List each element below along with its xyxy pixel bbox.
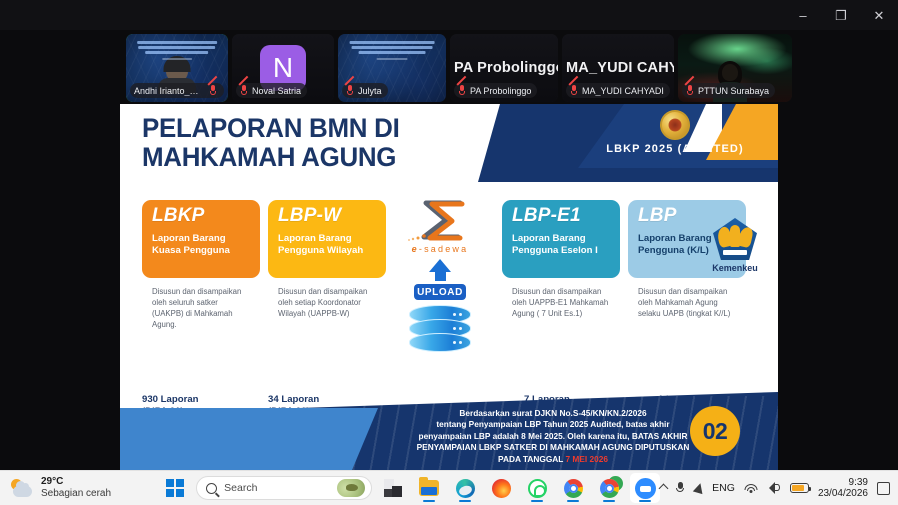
tile-name-badge: MA_YUDI CAHYADI bbox=[566, 83, 670, 98]
firefox-icon bbox=[492, 479, 511, 498]
mic-off-icon bbox=[346, 85, 355, 96]
mic-off-icon bbox=[240, 85, 249, 96]
taskbar-app-firefox-icon[interactable] bbox=[486, 473, 516, 503]
participant-name: PA Probolinggo bbox=[470, 86, 531, 96]
e-sadewa-logo-icon bbox=[392, 200, 488, 246]
title-line-2: MAHKAMAH AGUNG bbox=[142, 143, 399, 172]
taskbar-app-file-explorer-icon[interactable] bbox=[414, 473, 444, 503]
teams-icon bbox=[384, 479, 402, 497]
clock[interactable]: 9:39 23/04/2026 bbox=[818, 477, 868, 500]
mic-off-icon bbox=[209, 85, 218, 96]
seal-icon bbox=[660, 110, 690, 140]
title-line-1: PELAPORAN BMN DI bbox=[142, 114, 399, 143]
zoom-icon bbox=[635, 478, 656, 499]
input-language[interactable]: ENG bbox=[712, 482, 735, 494]
flow-step-lbp-w: LBP-W Laporan Barang Pengguna Wilayah Di… bbox=[268, 200, 386, 319]
upload-arrow-icon bbox=[429, 259, 451, 272]
taskbar-app-zoom-icon[interactable] bbox=[630, 473, 660, 503]
windows-logo-icon bbox=[166, 479, 184, 497]
participant-display-name: PA Probolinggo bbox=[450, 60, 558, 76]
file-explorer-icon bbox=[419, 480, 439, 496]
database-icon bbox=[409, 305, 471, 352]
show-hidden-icons-icon[interactable] bbox=[659, 483, 669, 493]
participant-name: Julyta bbox=[358, 86, 382, 96]
taskbar-app-chrome-beta-icon[interactable] bbox=[594, 473, 624, 503]
shared-screen-slide[interactable]: LBKP 2025 (AUDITED) PELAPORAN BMN DI MAH… bbox=[120, 104, 778, 470]
step-tag: LBKP bbox=[152, 206, 250, 226]
step-subtitle: Laporan Barang Pengguna Eselon I bbox=[512, 233, 610, 258]
video-tile-pttun-surabaya[interactable]: PTTUN Surabaya bbox=[678, 34, 792, 102]
kemenkeu-group: Kemenkeu bbox=[692, 218, 778, 273]
volume-icon[interactable] bbox=[767, 482, 781, 494]
window-titlebar: – ❐ ✕ bbox=[0, 0, 898, 30]
participant-name: PTTUN Surabaya bbox=[698, 86, 769, 96]
e-sadewa-upload-group: e-sadewa UPLOAD bbox=[392, 200, 488, 352]
taskbar-app-edge-icon[interactable] bbox=[450, 473, 480, 503]
weather-temperature: 29°C bbox=[41, 476, 111, 488]
upload-arrow-stem bbox=[435, 272, 446, 281]
search-icon bbox=[206, 483, 217, 494]
footer-line-1: Berdasarkan surat DJKN No.S-45/KN/KN.2/2… bbox=[358, 408, 748, 419]
taskbar-weather-widget[interactable]: 29°C Sebagian cerah bbox=[0, 476, 160, 500]
upload-label: UPLOAD bbox=[414, 284, 466, 300]
audited-badge: LBKP 2025 (AUDITED) bbox=[580, 108, 770, 155]
tile-name-badge: PTTUN Surabaya bbox=[682, 83, 775, 98]
search-highlight-thumbnail bbox=[337, 479, 365, 497]
search-box[interactable]: Search bbox=[196, 476, 372, 500]
chrome-beta-icon bbox=[600, 479, 619, 498]
tile-name-badge: Julyta bbox=[342, 83, 388, 98]
tile-name-badge: Andhi Irianto_MA RI bbox=[130, 83, 224, 98]
footer-note: Berdasarkan surat DJKN No.S-45/KN/KN.2/2… bbox=[358, 408, 748, 465]
footer-line-5: PADA TANGGAL 7 MEI 2026 bbox=[358, 454, 748, 465]
wifi-icon[interactable] bbox=[744, 483, 758, 494]
tile-name-badge: Noval Satria bbox=[236, 83, 307, 98]
whatsapp-icon bbox=[528, 479, 547, 498]
video-tile-noval-satria[interactable]: N Noval Satria bbox=[232, 34, 334, 102]
clock-time: 9:39 bbox=[818, 477, 868, 489]
search-placeholder: Search bbox=[224, 482, 330, 494]
windows-taskbar: 29°C Sebagian cerah Search bbox=[0, 470, 898, 505]
kemenkeu-logo-icon bbox=[713, 218, 757, 260]
step-description: Disusun dan disampaikan oleh UAPPB-E1 Ma… bbox=[502, 286, 620, 319]
step-tag: LBP-E1 bbox=[512, 206, 610, 226]
notifications-icon[interactable] bbox=[877, 482, 890, 495]
step-chip: LBKP Laporan Barang Kuasa Pengguna bbox=[142, 200, 260, 278]
badge-label: LBKP 2025 (AUDITED) bbox=[580, 143, 770, 155]
desktop-screen: – ❐ ✕ Andhi Irianto_MA RI bbox=[0, 0, 898, 505]
participant-video-strip: Andhi Irianto_MA RI N Noval Satria Julyt… bbox=[0, 30, 898, 104]
pen-icon[interactable] bbox=[693, 482, 703, 494]
kemenkeu-label: Kemenkeu bbox=[692, 263, 778, 273]
step-chip: LBP-W Laporan Barang Pengguna Wilayah bbox=[268, 200, 386, 278]
taskbar-app-chrome-icon[interactable] bbox=[558, 473, 588, 503]
mic-off-icon bbox=[686, 85, 695, 96]
video-tile-andhi-irianto[interactable]: Andhi Irianto_MA RI bbox=[126, 34, 228, 102]
flow-step-lbp-e1: LBP-E1 Laporan Barang Pengguna Eselon I … bbox=[502, 200, 620, 319]
mic-off-icon bbox=[458, 85, 467, 96]
participant-name: MA_YUDI CAHYADI bbox=[582, 86, 664, 96]
edge-icon bbox=[456, 479, 475, 498]
partly-cloudy-icon bbox=[10, 478, 34, 498]
system-tray: ENG 9:39 23/04/2026 bbox=[660, 477, 898, 500]
participant-name: Noval Satria bbox=[252, 86, 301, 96]
battery-icon[interactable] bbox=[790, 483, 809, 493]
slide-page-number: 02 bbox=[690, 406, 740, 456]
taskbar-center-group: Search bbox=[160, 473, 660, 503]
step-subtitle: Laporan Barang Kuasa Pengguna bbox=[152, 233, 250, 258]
taskbar-app-whatsapp-icon[interactable] bbox=[522, 473, 552, 503]
step-subtitle: Laporan Barang Pengguna Wilayah bbox=[278, 233, 376, 258]
start-button[interactable] bbox=[160, 473, 190, 503]
shared-slide-thumbnail bbox=[133, 41, 221, 62]
page-title: PELAPORAN BMN DI MAHKAMAH AGUNG bbox=[142, 114, 399, 171]
step-description: Disusun dan disampaikan oleh Mahkamah Ag… bbox=[628, 286, 746, 319]
flow-step-lbkp: LBKP Laporan Barang Kuasa Pengguna Disus… bbox=[142, 200, 260, 330]
chrome-icon bbox=[564, 479, 583, 498]
footer-blue-band bbox=[120, 408, 378, 470]
video-tile-ma-yudi-cahyadi[interactable]: MA_YUDI CAHY... MA_YUDI CAHYADI bbox=[562, 34, 674, 102]
video-tile-julyta[interactable]: Julyta bbox=[338, 34, 446, 102]
clock-date: 23/04/2026 bbox=[818, 488, 868, 500]
step-description: Disusun dan disampaikan oleh setiap Koor… bbox=[268, 286, 386, 319]
close-button[interactable]: ✕ bbox=[860, 0, 898, 30]
participant-display-name: MA_YUDI CAHY... bbox=[562, 60, 674, 76]
footer-line-4: PENYAMPAIAN LBKP SATKER DI MAHKAMAH AGUN… bbox=[358, 442, 748, 453]
flow-diagram: LBKP Laporan Barang Kuasa Pengguna Disus… bbox=[120, 200, 778, 400]
video-tile-pa-probolinggo[interactable]: PA Probolinggo PA Probolinggo bbox=[450, 34, 558, 102]
step-tag: LBP-W bbox=[278, 206, 376, 226]
mic-off-icon bbox=[570, 85, 579, 96]
step-description: Disusun dan disampaikan oleh seluruh sat… bbox=[142, 286, 260, 330]
microphone-icon[interactable] bbox=[676, 482, 684, 494]
footer-deadline-prefix: PADA TANGGAL bbox=[498, 454, 565, 464]
minimize-button[interactable]: – bbox=[784, 0, 822, 30]
taskbar-app-teams-icon[interactable] bbox=[378, 473, 408, 503]
shared-slide-thumbnail bbox=[346, 41, 439, 62]
restore-button[interactable]: ❐ bbox=[822, 0, 860, 30]
tile-name-badge: PA Probolinggo bbox=[454, 83, 537, 98]
participant-name: Andhi Irianto_MA RI bbox=[134, 86, 206, 96]
weather-condition: Sebagian cerah bbox=[41, 488, 111, 500]
step-chip: LBP-E1 Laporan Barang Pengguna Eselon I bbox=[502, 200, 620, 278]
footer-deadline-date: 7 MEI 2026 bbox=[566, 454, 608, 464]
